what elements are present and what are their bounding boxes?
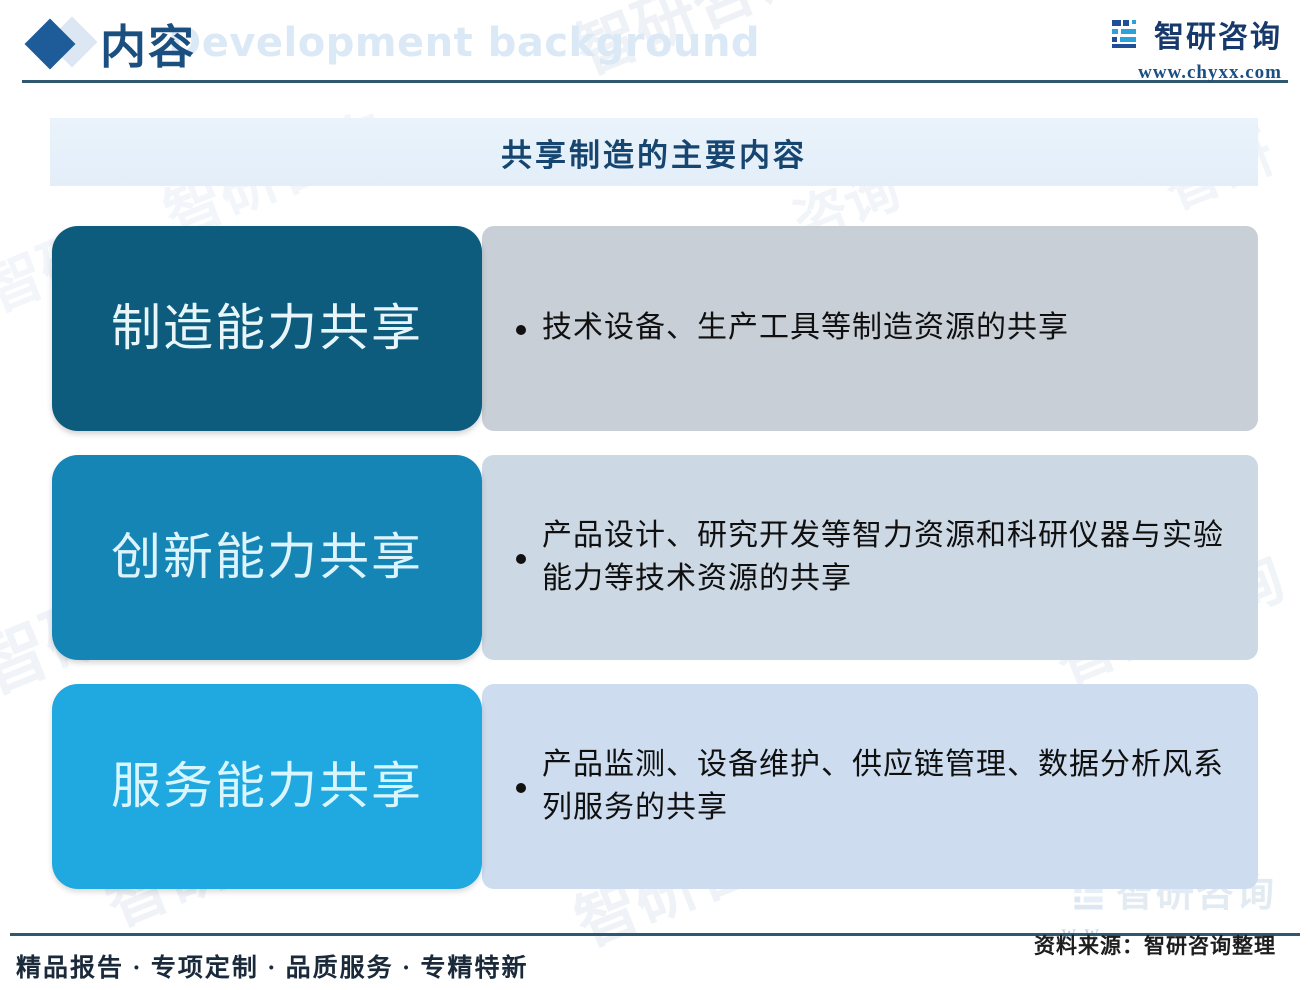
header-divider: [22, 80, 1288, 83]
row-label-box[interactable]: 制造能力共享: [52, 226, 482, 431]
row-description: 产品设计、研究开发等智力资源和科研仪器与实验能力等技术资源的共享: [542, 515, 1234, 600]
section-title: 共享制造的主要内容: [501, 130, 807, 175]
bullet-icon: [516, 325, 526, 335]
footer-tagline: 精品报告 · 专项定制 · 品质服务 · 专精特新: [16, 948, 529, 984]
row-description: 产品监测、设备维护、供应链管理、数据分析风系列服务的共享: [542, 744, 1234, 829]
brand-block: 智研咨询 www.chyxx.com: [1110, 12, 1282, 84]
content-row: 技术设备、生产工具等制造资源的共享 制造能力共享: [52, 226, 1258, 431]
row-description: 技术设备、生产工具等制造资源的共享: [542, 307, 1069, 350]
bullet-icon: [516, 554, 526, 564]
page-header: Development background 内容 智研咨询 w: [0, 0, 1310, 92]
diamond-icon: [28, 18, 108, 70]
bullet-icon: [516, 783, 526, 793]
row-label: 制造能力共享: [111, 299, 423, 358]
row-label-box[interactable]: 服务能力共享: [52, 684, 482, 889]
page-title: 内容: [100, 11, 196, 77]
row-label-box[interactable]: 创新能力共享: [52, 455, 482, 660]
row-description-panel: 产品设计、研究开发等智力资源和科研仪器与实验能力等技术资源的共享: [482, 455, 1258, 660]
content-row: 产品设计、研究开发等智力资源和科研仪器与实验能力等技术资源的共享 创新能力共享: [52, 455, 1258, 660]
header-ghost-title: Development background: [168, 20, 760, 66]
row-label: 创新能力共享: [111, 528, 423, 587]
brand-name: 智研咨询: [1154, 12, 1282, 56]
chyxx-logo-icon: [1110, 17, 1144, 51]
row-label: 服务能力共享: [111, 757, 423, 816]
content-row: 产品监测、设备维护、供应链管理、数据分析风系列服务的共享 服务能力共享: [52, 684, 1258, 889]
row-description-panel: 产品监测、设备维护、供应链管理、数据分析风系列服务的共享: [482, 684, 1258, 889]
section-banner: 共享制造的主要内容: [50, 118, 1258, 186]
brand-url: www.chyxx.com: [1110, 62, 1282, 84]
source-note: 资料来源：智研咨询整理: [1034, 930, 1276, 960]
row-description-panel: 技术设备、生产工具等制造资源的共享: [482, 226, 1258, 431]
